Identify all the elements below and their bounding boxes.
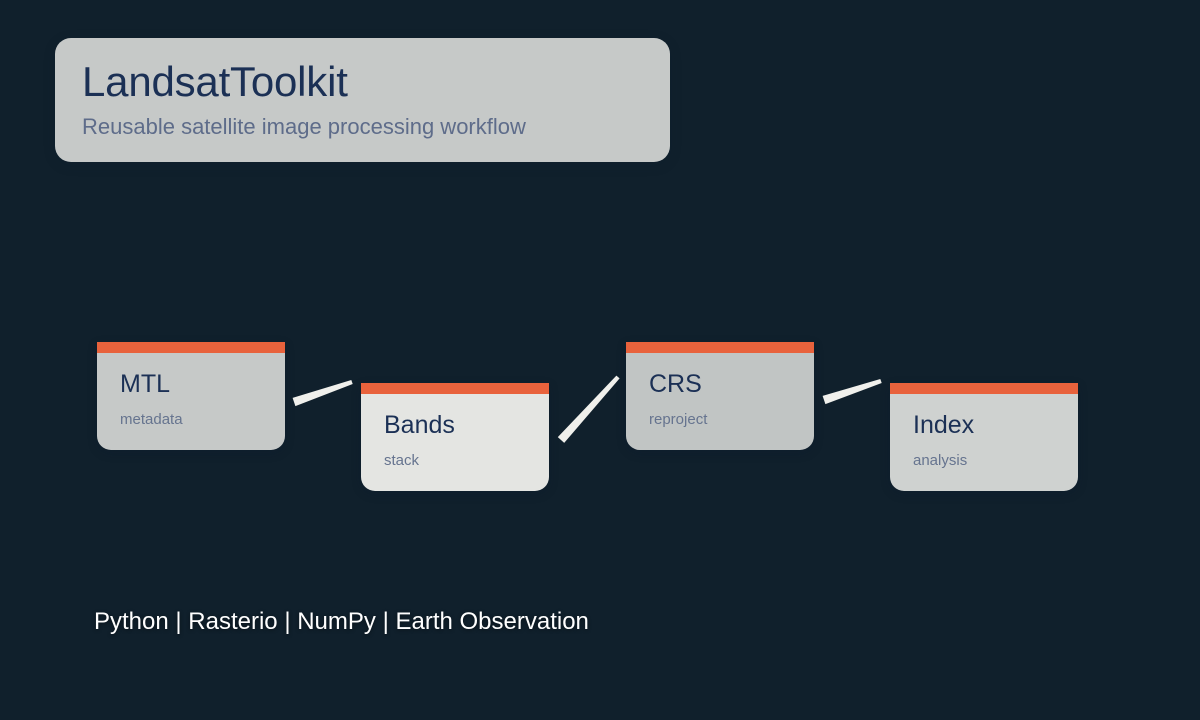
card-body: CRSreproject xyxy=(626,353,814,450)
page-title: LandsatToolkit xyxy=(82,60,670,105)
card-accent-bar xyxy=(890,383,1078,394)
card-title: CRS xyxy=(649,371,814,399)
page-subtitle: Reusable satellite image processing work… xyxy=(82,114,670,140)
card-accent-bar xyxy=(626,342,814,353)
card-subtitle: metadata xyxy=(120,411,285,428)
tech-stack-footer: Python | Rasterio | NumPy | Earth Observ… xyxy=(94,608,589,636)
title-card: LandsatToolkit Reusable satellite image … xyxy=(55,38,670,162)
workflow-card-mtl[interactable]: MTLmetadata xyxy=(97,342,285,450)
card-title: MTL xyxy=(120,371,285,399)
card-subtitle: stack xyxy=(384,452,549,469)
workflow-card-bands[interactable]: Bandsstack xyxy=(361,383,549,491)
card-body: MTLmetadata xyxy=(97,353,285,450)
workflow-card-crs[interactable]: CRSreproject xyxy=(626,342,814,450)
slide-canvas: LandsatToolkit Reusable satellite image … xyxy=(0,0,1200,720)
card-accent-bar xyxy=(97,342,285,353)
card-subtitle: analysis xyxy=(913,452,1078,469)
card-accent-bar xyxy=(361,383,549,394)
card-body: Indexanalysis xyxy=(890,394,1078,491)
card-subtitle: reproject xyxy=(649,411,814,428)
card-title: Index xyxy=(913,412,1078,440)
card-body: Bandsstack xyxy=(361,394,549,491)
workflow-card-index[interactable]: Indexanalysis xyxy=(890,383,1078,491)
card-title: Bands xyxy=(384,412,549,440)
